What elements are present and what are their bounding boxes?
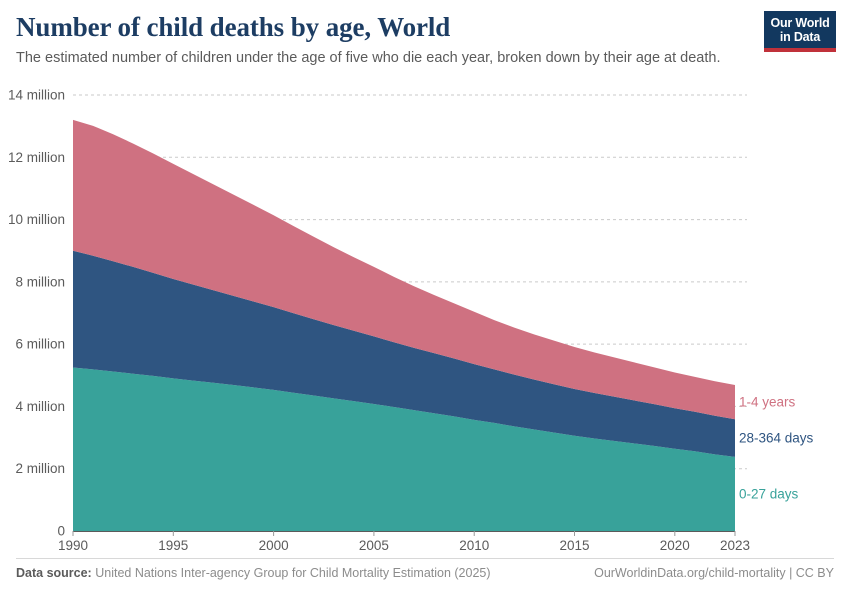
y-tick-label: 6 million — [15, 337, 65, 352]
y-tick-label: 12 million — [8, 150, 65, 165]
data-source: Data source: United Nations Inter-agency… — [16, 566, 491, 580]
y-tick-label: 14 million — [8, 88, 65, 103]
x-tick-label: 2015 — [559, 538, 589, 553]
x-tick-label: 1990 — [58, 538, 88, 553]
chart-subtitle: The estimated number of children under t… — [16, 49, 834, 67]
chart-area[interactable]: 02 million4 million6 million8 million10 … — [0, 80, 850, 555]
legend-label-28-364-days[interactable]: 28-364 days — [739, 431, 814, 446]
x-axis: 19901995200020052010201520202023 — [58, 531, 750, 553]
series-legend[interactable]: 0-27 days28-364 days1-4 years — [739, 395, 814, 502]
x-tick-label: 2010 — [459, 538, 489, 553]
y-tick-label: 8 million — [15, 274, 65, 289]
y-tick-label: 10 million — [8, 212, 65, 227]
logo-line-2: in Data — [764, 30, 836, 44]
logo-line-1: Our World — [764, 16, 836, 30]
x-tick-label: 2020 — [660, 538, 690, 553]
y-tick-label: 0 — [57, 524, 65, 539]
legend-label-0-27-days[interactable]: 0-27 days — [739, 486, 799, 501]
attribution-link[interactable]: OurWorldinData.org/child-mortality | CC … — [594, 566, 834, 580]
x-tick-label: 1995 — [158, 538, 188, 553]
footer-divider — [16, 558, 834, 559]
area-series-group[interactable] — [73, 120, 735, 531]
y-tick-label: 4 million — [15, 399, 65, 414]
legend-label-1-4-years[interactable]: 1-4 years — [739, 395, 796, 410]
chart-header: Number of child deaths by age, World The… — [16, 12, 834, 74]
our-world-in-data-logo[interactable]: Our World in Data — [764, 11, 836, 52]
x-tick-label: 2023 — [720, 538, 750, 553]
chart-footer: Data source: United Nations Inter-agency… — [16, 566, 834, 590]
page-title: Number of child deaths by age, World — [16, 12, 834, 42]
y-tick-label: 2 million — [15, 461, 65, 476]
x-tick-label: 2005 — [359, 538, 389, 553]
x-tick-label: 2000 — [259, 538, 289, 553]
y-axis: 02 million4 million6 million8 million10 … — [8, 88, 65, 539]
data-source-text: United Nations Inter-agency Group for Ch… — [95, 566, 490, 580]
owid-chart-page: Number of child deaths by age, World The… — [0, 0, 850, 600]
stacked-area-chart[interactable]: 02 million4 million6 million8 million10 … — [0, 80, 850, 555]
data-source-label: Data source: — [16, 566, 92, 580]
